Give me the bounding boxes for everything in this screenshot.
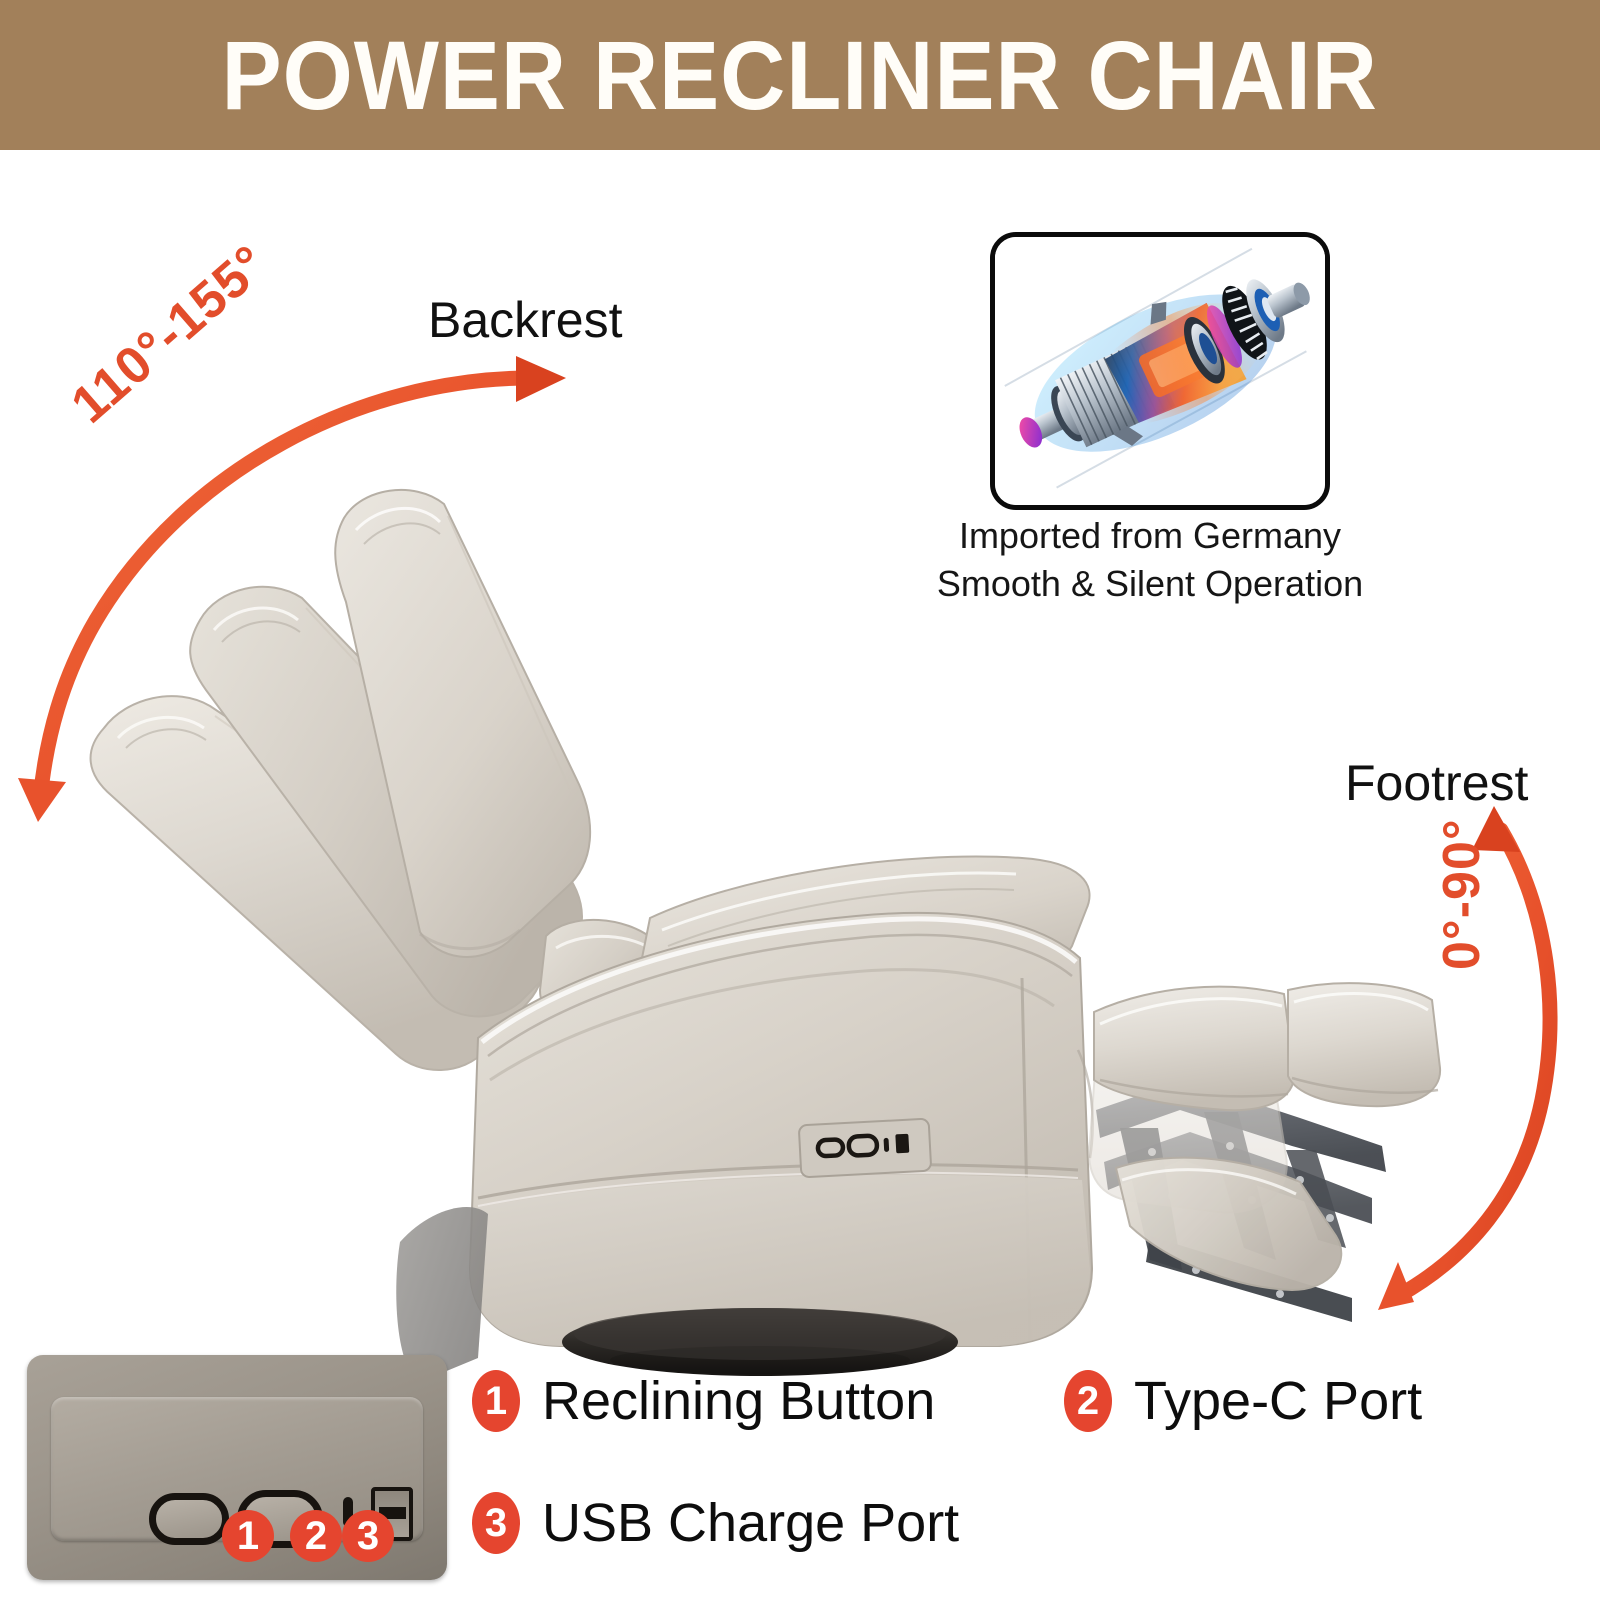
panel-marker-1: 1 [222,1510,274,1562]
usb-port-icon [895,1134,909,1154]
motor-caption: Imported from Germany Smooth & Silent Op… [880,512,1420,608]
legend-badge-1: 1 [472,1370,520,1432]
legend-label-2: Type-C Port [1134,1374,1422,1428]
motor-inset-box [990,232,1330,510]
panel-marker-3: 3 [342,1510,394,1562]
type-c-port-icon [884,1138,890,1152]
legend-item-1: 1 Reclining Button [472,1370,935,1432]
footrest-angle-label: 0°-90° [1432,818,1492,970]
reclining-button-left[interactable] [149,1493,229,1545]
backrest-label: Backrest [428,295,623,345]
footrest-label: Footrest [1345,758,1528,808]
motor-image [995,237,1325,505]
control-panel-photo: 1 2 3 [27,1355,447,1580]
page-title: POWER RECLINER CHAIR [222,27,1378,124]
footrest-extended [1094,983,1440,1110]
motor-caption-line-1: Imported from Germany [880,512,1420,560]
header-banner: POWER RECLINER CHAIR [0,0,1600,150]
motor-caption-line-2: Smooth & Silent Operation [880,560,1420,608]
legend-item-3: 3 USB Charge Port [472,1492,959,1554]
legend-label-3: USB Charge Port [542,1496,959,1550]
chair-side-control-panel[interactable] [799,1119,932,1178]
legend-label-1: Reclining Button [542,1374,935,1428]
legend-item-2: 2 Type-C Port [1064,1370,1422,1432]
legend-badge-2: 2 [1064,1370,1112,1432]
legend-badge-3: 3 [472,1492,520,1554]
panel-marker-2: 2 [290,1510,342,1562]
